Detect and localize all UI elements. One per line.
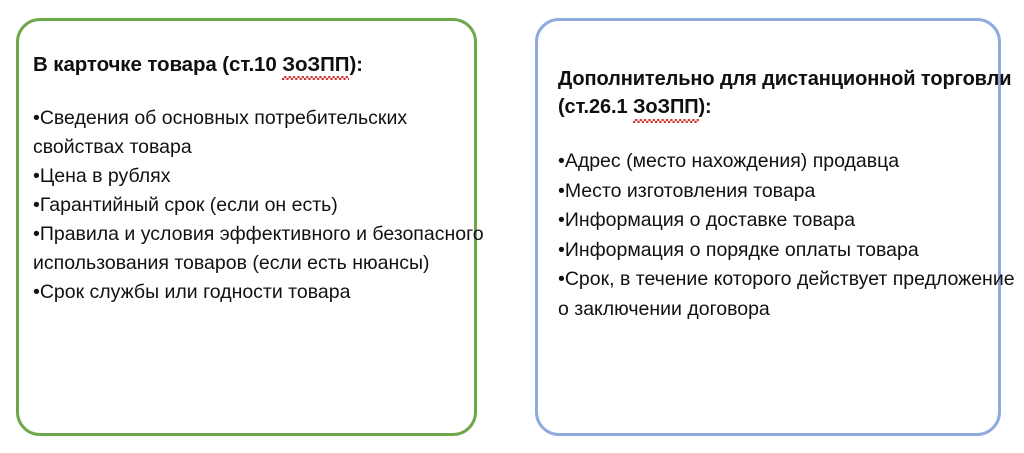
bullet-marker-icon: •: [558, 180, 565, 202]
heading-text-before: Дополнительно для дистанционной торговли…: [558, 68, 1017, 118]
list-item: •Сведения об основных потребительских св…: [33, 104, 488, 162]
panel-product-card-info: В карточке товара (ст.10 ЗоЗПП): •Сведен…: [16, 18, 477, 436]
list-item-label: Место изготовления товара: [565, 180, 816, 202]
bullet-marker-icon: •: [558, 209, 565, 231]
bullet-marker-icon: •: [558, 150, 565, 172]
panel-heading: Дополнительно для дистанционной торговли…: [558, 65, 1018, 121]
list-item: •Срок, в течение которого действует пред…: [558, 265, 1018, 324]
panel-distance-selling-info: Дополнительно для дистанционной торговли…: [535, 18, 1001, 436]
slide-canvas: В карточке товара (ст.10 ЗоЗПП): •Сведен…: [0, 0, 1024, 453]
list-item-label: Правила и условия эффективного и безопас…: [33, 223, 489, 274]
heading-text-after: ):: [349, 53, 362, 76]
list-item: •Срок службы или годности товара: [33, 278, 488, 307]
bullet-marker-icon: •: [33, 281, 40, 303]
list-item-label: Срок службы или годности товара: [40, 281, 351, 303]
bullet-marker-icon: •: [33, 165, 40, 187]
heading-misspelled-term: ЗоЗПП: [282, 51, 349, 78]
list-item: •Адрес (место нахождения) продавца: [558, 147, 1018, 177]
bullet-list: •Сведения об основных потребительских св…: [33, 104, 488, 307]
list-item-label: Цена в рублях: [40, 165, 171, 187]
list-item-label: Информация о порядке оплаты товара: [565, 239, 919, 261]
heading-text-before: В карточке товара (ст.10: [33, 53, 282, 76]
list-item: •Место изготовления товара: [558, 177, 1018, 207]
list-item-label: Сведения об основных потребительских сво…: [33, 107, 413, 158]
list-item-label: Адрес (место нахождения) продавца: [565, 150, 899, 172]
bullet-marker-icon: •: [558, 268, 565, 290]
list-item: •Информация о доставке товара: [558, 206, 1018, 236]
bullet-list: •Адрес (место нахождения) продавца •Мест…: [558, 147, 1018, 324]
list-item: •Гарантийный срок (если он есть): [33, 191, 488, 220]
list-item: •Правила и условия эффективного и безопа…: [33, 220, 488, 278]
panel-heading: В карточке товара (ст.10 ЗоЗПП):: [33, 51, 488, 78]
bullet-marker-icon: •: [33, 107, 40, 129]
bullet-marker-icon: •: [558, 239, 565, 261]
list-item: •Цена в рублях: [33, 162, 488, 191]
heading-misspelled-term: ЗоЗПП: [633, 93, 699, 121]
bullet-marker-icon: •: [33, 194, 40, 216]
list-item-label: Срок, в течение которого действует предл…: [558, 268, 1020, 320]
panel-content: В карточке товара (ст.10 ЗоЗПП): •Сведен…: [19, 21, 498, 307]
bullet-marker-icon: •: [33, 223, 40, 245]
list-item-label: Информация о доставке товара: [565, 209, 855, 231]
panel-content: Дополнительно для дистанционной торговли…: [538, 21, 1024, 324]
list-item: •Информация о порядке оплаты товара: [558, 236, 1018, 266]
list-item-label: Гарантийный срок (если он есть): [40, 194, 338, 216]
heading-text-after: ):: [699, 96, 712, 118]
